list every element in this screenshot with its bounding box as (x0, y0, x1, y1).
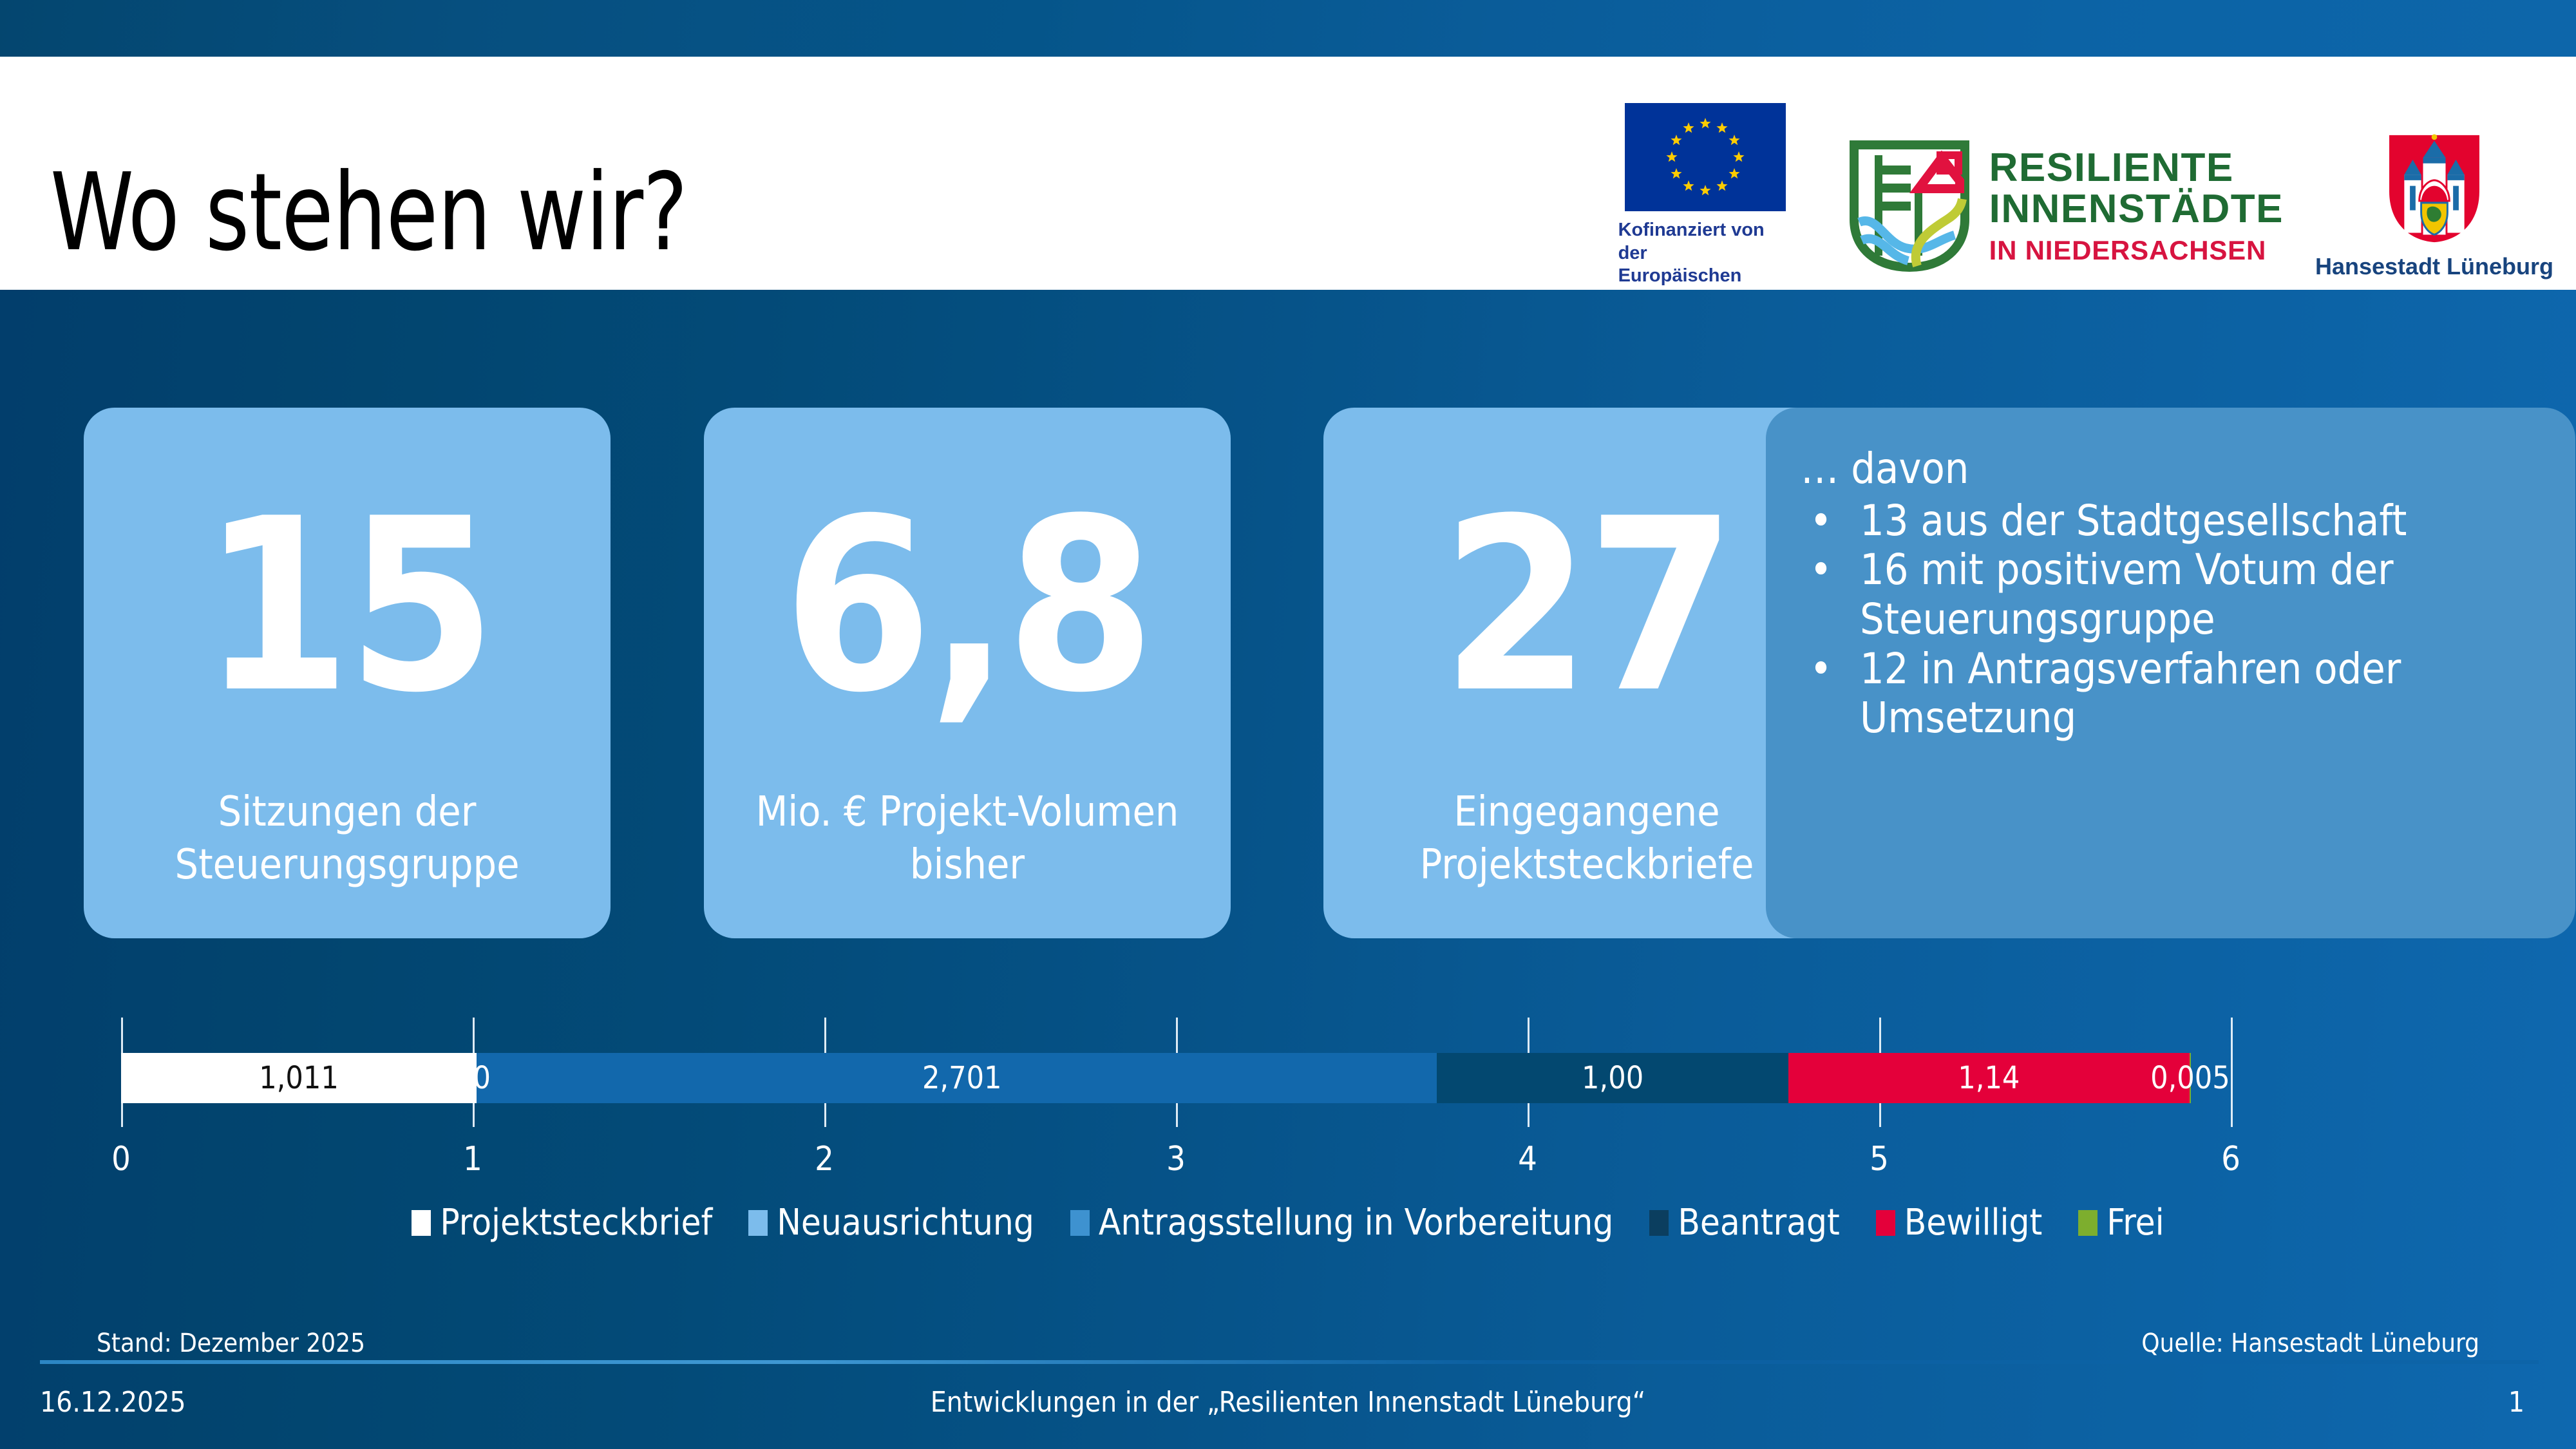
legend-label: Projektsteckbrief (440, 1202, 712, 1244)
resiliente-wordmark: RESILIENTE INNENSTÄDTE IN NIEDERSACHSEN (1989, 147, 2284, 267)
chart-plot-area: 1,01102,7011,001,140,005 (121, 1018, 2231, 1127)
resiliente-innenstaedte-logo: RESILIENTE INNENSTÄDTE IN NIEDERSACHSEN (1846, 140, 2284, 274)
bar-segment-bewilligt: 1,14 (1788, 1053, 2189, 1103)
list-item: • 12 in Antragsverfahren oder Umsetzung (1801, 645, 2547, 743)
bar-segment-frei: 0,005 (2190, 1053, 2192, 1103)
eu-stars-icon (1625, 103, 1786, 211)
legend-label: Frei (2107, 1202, 2164, 1244)
chart-x-axis: 0123456 (121, 1140, 2231, 1185)
x-axis-tick-label: 0 (111, 1140, 131, 1179)
list-item-label: 16 mit positivem Votum der Steuerungsgru… (1860, 545, 2547, 644)
list-item-label: 13 aus der Stadtgesellschaft (1860, 497, 2547, 546)
bar-segment-value: 1,14 (1958, 1060, 2020, 1096)
bar-segment-value: 1,011 (259, 1060, 339, 1096)
page-title: Wo stehen wir? (50, 160, 687, 267)
legend-item[interactable]: Antragsstellung in Vorbereitung (1070, 1202, 1613, 1244)
bullet-icon: • (1801, 645, 1860, 694)
kpi-number: 27 (1441, 504, 1732, 709)
bar-segment-value: 0 (473, 1060, 490, 1096)
resilienz-shield-icon (1846, 140, 1973, 274)
kpi-label: Mio. € Projekt-Volumen bisher (704, 786, 1231, 892)
logo-group: Kofinanziert von der Europäischen Union … (1618, 133, 2531, 281)
bar-segment-antragsstellung-in-vorbereitung: 2,701 (487, 1053, 1437, 1103)
x-axis-tick-label: 2 (815, 1140, 834, 1179)
list-item-label: 12 in Antragsverfahren oder Umsetzung (1860, 645, 2547, 743)
kpi-card-projektvolumen: 6,8 Mio. € Projekt-Volumen bisher (704, 408, 1231, 938)
stacked-bar-chart: 1,01102,7011,001,140,005 0123456 Projekt… (0, 1005, 2576, 1275)
bullet-icon: • (1801, 497, 1860, 546)
legend-label: Antragsstellung in Vorbereitung (1099, 1202, 1613, 1244)
detail-bullet-list: • 13 aus der Stadtgesellschaft • 16 mit … (1801, 497, 2547, 743)
detail-panel-heading: … davon (1801, 445, 2547, 493)
list-item: • 16 mit positivem Votum der Steuerungsg… (1801, 545, 2547, 644)
legend-swatch-icon (1070, 1210, 1090, 1236)
legend-swatch-icon (1649, 1210, 1669, 1236)
kpi-card-row: 15 Sitzungen der Steuerungsgruppe 6,8 Mi… (84, 408, 2492, 938)
bar-segment-beantragt: 1,00 (1437, 1053, 1788, 1103)
eu-caption-line1: Kofinanziert von der (1618, 219, 1792, 265)
legend-swatch-icon (748, 1210, 768, 1236)
stacked-bar: 1,01102,7011,001,140,005 (121, 1053, 2231, 1103)
legend-item[interactable]: Neuausrichtung (748, 1202, 1034, 1244)
ri-line-2: INNENSTÄDTE (1989, 189, 2284, 230)
eu-flag-icon (1625, 103, 1786, 211)
ri-line-3: IN NIEDERSACHSEN (1989, 235, 2284, 266)
legend-label: Beantragt (1678, 1202, 1839, 1244)
eu-flag-logo: Kofinanziert von der Europäischen Union (1618, 103, 1792, 310)
list-item: • 13 aus der Stadtgesellschaft (1801, 497, 2547, 546)
bar-segment-value: 1,00 (1582, 1060, 1643, 1096)
quelle-note: Quelle: Hansestadt Lüneburg (2141, 1329, 2479, 1358)
x-axis-tick-label: 1 (463, 1140, 482, 1179)
footer-page-number: 1 (2508, 1386, 2524, 1419)
legend-item[interactable]: Projektsteckbrief (412, 1202, 712, 1244)
gridline (2231, 1018, 2233, 1127)
x-axis-tick-label: 4 (1518, 1140, 1537, 1179)
legend-item[interactable]: Frei (2078, 1202, 2164, 1244)
ri-line-1: RESILIENTE (1989, 147, 2284, 189)
legend-label: Bewilligt (1904, 1202, 2043, 1244)
x-axis-tick-label: 3 (1166, 1140, 1186, 1179)
legend-swatch-icon (2078, 1210, 2098, 1236)
bullet-icon: • (1801, 545, 1860, 595)
lueneburg-caption: Hansestadt Lüneburg (2315, 253, 2553, 280)
top-accent-strip (0, 0, 2576, 57)
bar-segment-neuausrichtung: 0 (477, 1053, 487, 1103)
legend-swatch-icon (412, 1210, 431, 1236)
kpi-card-sitzungen: 15 Sitzungen der Steuerungsgruppe (84, 408, 611, 938)
x-axis-tick-label: 5 (1870, 1140, 1889, 1179)
kpi-number: 15 (202, 504, 492, 709)
legend-item[interactable]: Beantragt (1649, 1202, 1839, 1244)
bar-segment-value: 2,701 (922, 1060, 1002, 1096)
kpi-label: Sitzungen der Steuerungsgruppe (84, 786, 611, 892)
lueneburg-coat-of-arms-icon (2387, 133, 2481, 244)
footer-title: Entwicklungen in der „Resilienten Innens… (0, 1386, 2576, 1419)
bar-segment-projektsteckbrief: 1,011 (121, 1053, 477, 1103)
legend-swatch-icon (1876, 1210, 1895, 1236)
hansestadt-lueneburg-logo: Hansestadt Lüneburg (2338, 133, 2531, 280)
legend-label: Neuausrichtung (777, 1202, 1034, 1244)
footer-divider (40, 1360, 2539, 1364)
chart-legend: ProjektsteckbriefNeuausrichtungAntragsst… (0, 1202, 2576, 1244)
legend-item[interactable]: Bewilligt (1876, 1202, 2043, 1244)
x-axis-tick-label: 6 (2221, 1140, 2240, 1179)
stand-note: Stand: Dezember 2025 (97, 1329, 365, 1358)
kpi-number: 6,8 (783, 504, 1151, 709)
kpi-detail-panel: … davon • 13 aus der Stadtgesellschaft •… (1766, 408, 2575, 938)
bar-segment-value: 0,005 (2150, 1060, 2230, 1096)
header-bar: Wo stehen wir? Kofinanziert von der Euro… (0, 57, 2576, 290)
